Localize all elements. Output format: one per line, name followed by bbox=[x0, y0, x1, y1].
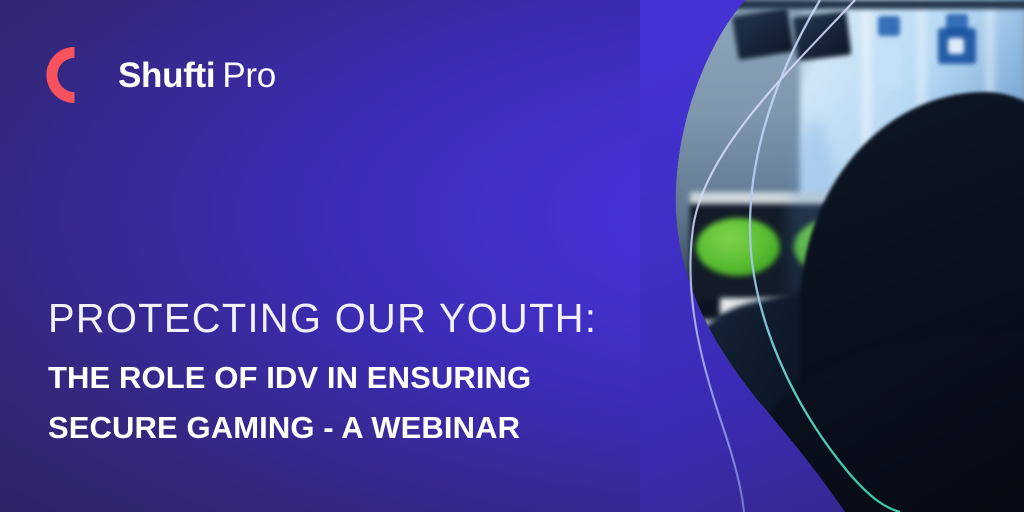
webinar-banner: ShuftiPro PROTECTING OUR YOUTH: THE ROLE… bbox=[0, 0, 1024, 512]
monitor-rail bbox=[700, 0, 1024, 9]
shufti-pro-wordmark: ShuftiPro bbox=[118, 58, 276, 93]
headline-line-2: THE ROLE OF IDV IN ENSURING bbox=[48, 353, 688, 403]
headline-block: PROTECTING OUR YOUTH: THE ROLE OF IDV IN… bbox=[48, 296, 688, 453]
poker-felt bbox=[696, 218, 780, 276]
logo-word-pro: Pro bbox=[222, 56, 276, 95]
headline-line-1: PROTECTING OUR YOUTH: bbox=[48, 296, 669, 342]
shufti-pro-logo[interactable]: ShuftiPro bbox=[44, 45, 276, 105]
dark-monitor bbox=[732, 8, 794, 60]
headline-line-3: SECURE GAMING - A WEBINAR bbox=[48, 403, 688, 453]
shufti-pro-ring-icon bbox=[44, 45, 104, 105]
logo-word-shufti: Shufti bbox=[118, 56, 215, 95]
wall-icon bbox=[878, 46, 902, 88]
wall-icon bbox=[948, 38, 964, 54]
wall-icon bbox=[878, 16, 900, 36]
dark-monitor bbox=[793, 11, 852, 61]
